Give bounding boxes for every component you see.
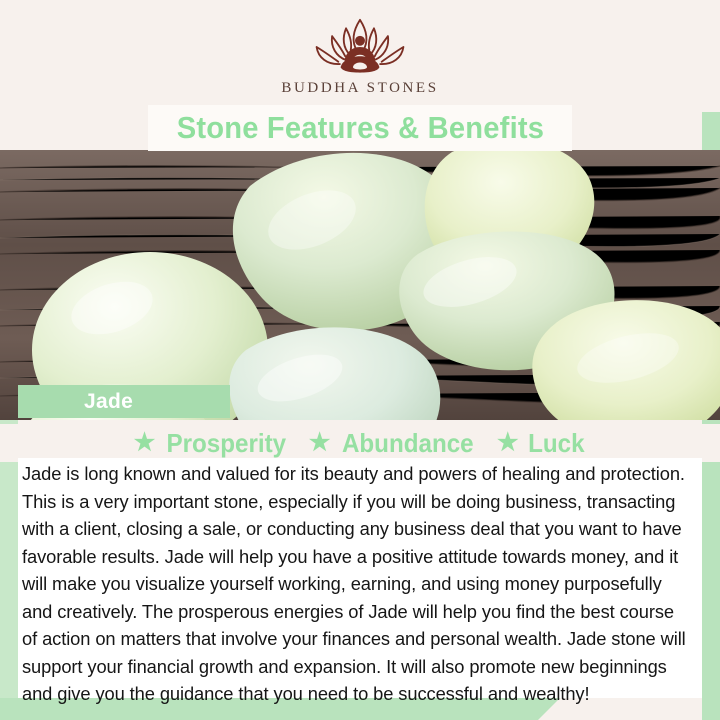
star-icon: ★: [134, 431, 156, 455]
lotus-meditation-icon: [298, 16, 422, 78]
stone-photo: [0, 150, 720, 420]
benefit-label: Abundance: [342, 428, 474, 459]
description-card: Jade is long known and valued for its be…: [18, 458, 702, 698]
brand-header: BUDDHA STONES: [0, 0, 720, 112]
benefit-item-prosperity: ★ Prosperity: [134, 428, 291, 459]
stone-name-badge: Jade: [18, 385, 230, 418]
stone-name-label: Jade: [18, 390, 133, 414]
benefit-item-abundance: ★ Abundance: [309, 428, 479, 459]
title-banner: Stone Features & Benefits: [148, 105, 572, 151]
benefit-item-luck: ★ Luck: [497, 428, 586, 459]
stone-features-infographic: BUDDHA STONES Stone Features & Benefits: [0, 0, 720, 720]
benefit-label: Prosperity: [167, 428, 287, 459]
benefit-label: Luck: [528, 428, 584, 459]
page-title: Stone Features & Benefits: [176, 110, 543, 146]
star-icon: ★: [497, 431, 519, 455]
benefits-row: ★ Prosperity ★ Abundance ★ Luck: [0, 424, 720, 462]
description-text: Jade is long known and valued for its be…: [22, 460, 686, 708]
star-icon: ★: [309, 431, 331, 455]
brand-name: BUDDHA STONES: [281, 80, 438, 97]
